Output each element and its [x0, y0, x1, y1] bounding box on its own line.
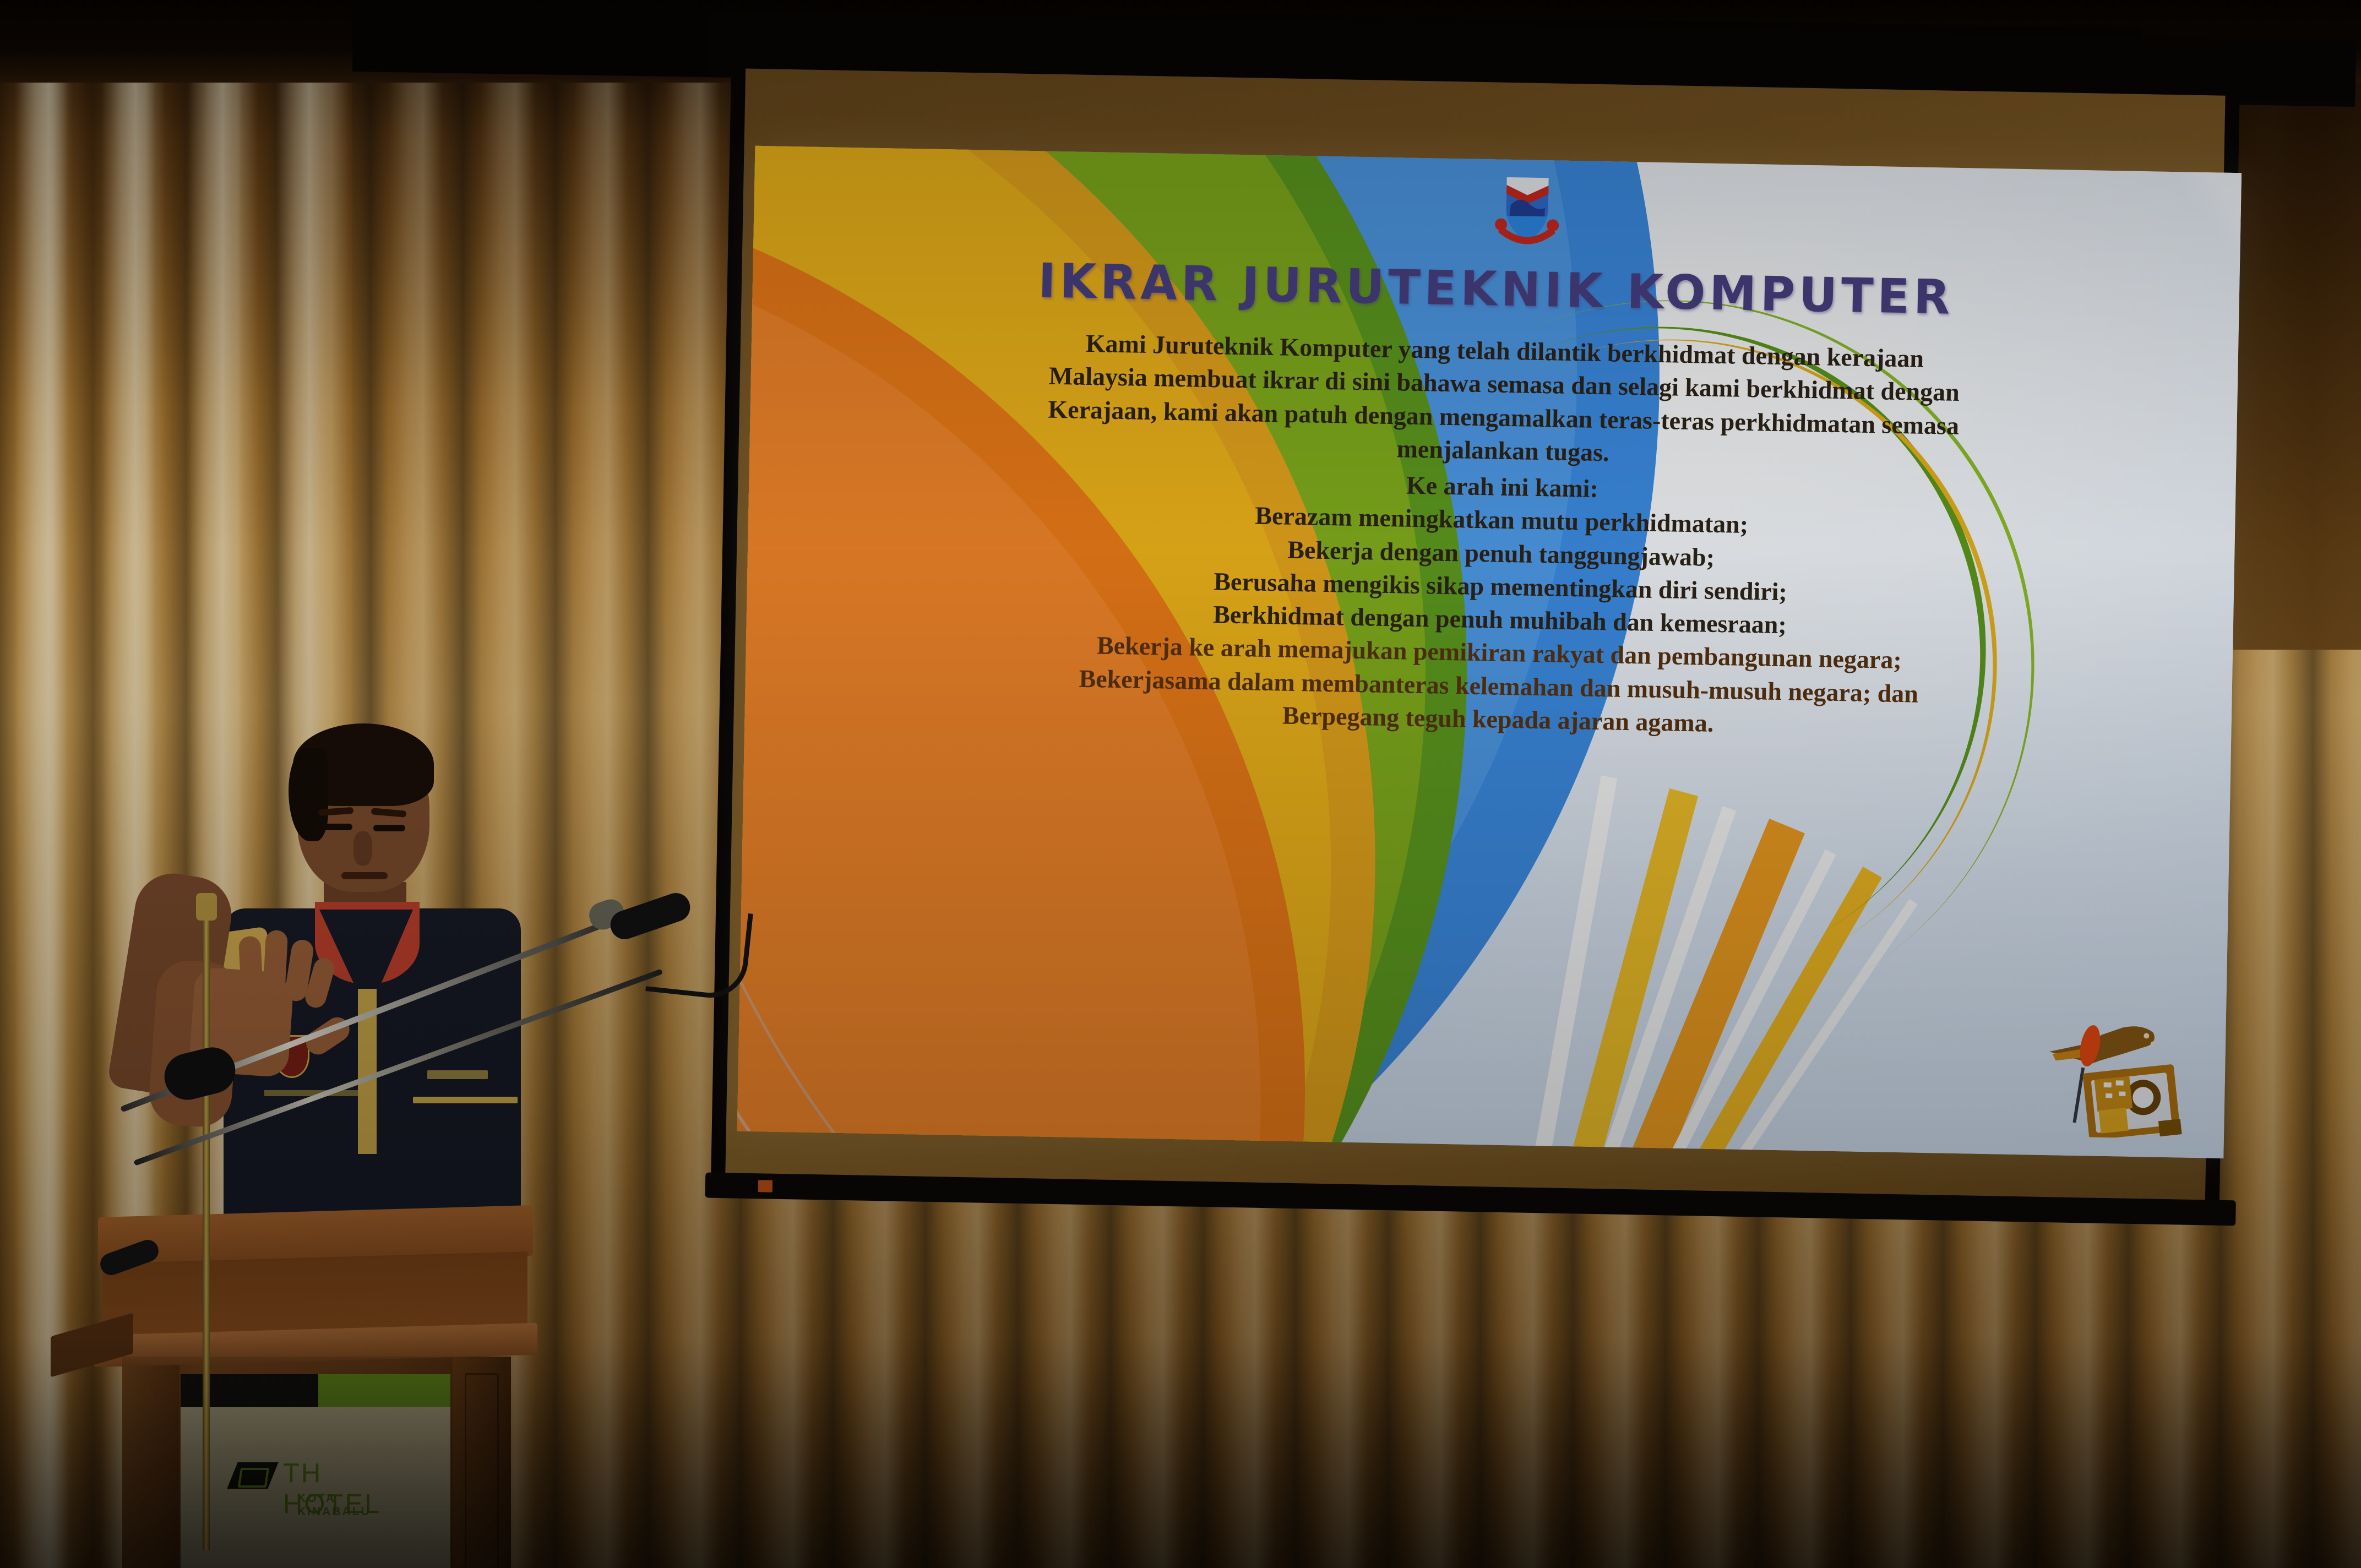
slide-title: IKRAR JURUTEKNIK KOMPUTER [752, 248, 2239, 330]
speaker-nose [353, 831, 372, 865]
speaker-eye-left [320, 824, 352, 830]
foreground-shadow [0, 1337, 2361, 1568]
vest-name-underline [413, 1097, 518, 1103]
speaker-figure [99, 727, 518, 1266]
speaker-eye-right [373, 825, 405, 831]
microphone-stand-head [196, 893, 217, 921]
slide-content: IKRAR JURUTEKNIK KOMPUTER Kami Jurutekni… [737, 146, 2242, 1158]
projected-slide: IKRAR JURUTEKNIK KOMPUTER Kami Jurutekni… [737, 146, 2242, 1158]
speaker-forearm [147, 959, 241, 1129]
projection-screen: IKRAR JURUTEKNIK KOMPUTER Kami Jurutekni… [710, 11, 2351, 1273]
finger-middle [263, 930, 288, 999]
screen-surface: IKRAR JURUTEKNIK KOMPUTER Kami Jurutekni… [711, 68, 2240, 1208]
sabah-crest-icon [1493, 172, 1561, 251]
speaker-mouth [341, 872, 388, 879]
photograph-scene: IKRAR JURUTEKNIK KOMPUTER Kami Jurutekni… [0, 0, 2361, 1568]
vest-name-tag [427, 1070, 488, 1079]
circuit-board-tools-photo [2038, 1010, 2194, 1139]
slide-body: Kami Juruteknik Komputer yang telah dila… [817, 322, 2185, 748]
finger-index [238, 936, 264, 998]
vest-embroidery [264, 1090, 358, 1096]
